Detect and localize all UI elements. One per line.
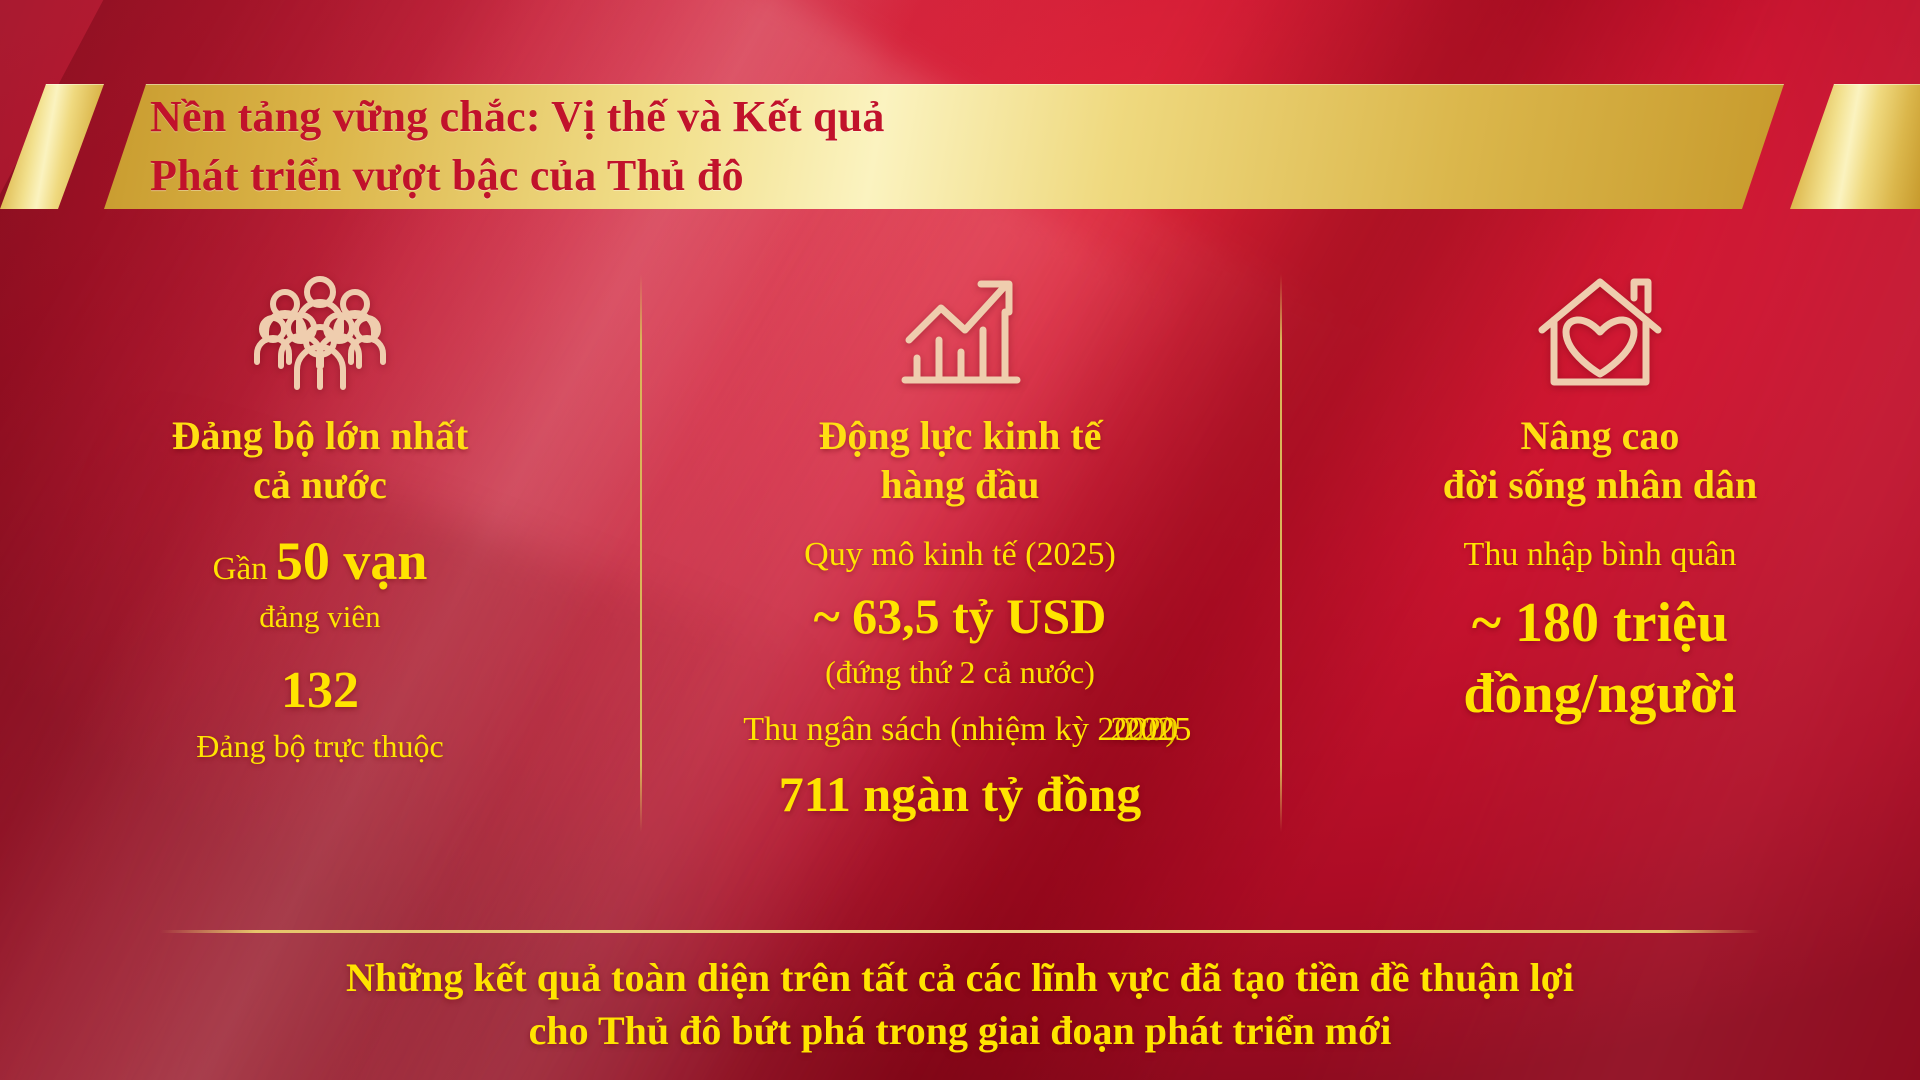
column-3-value-line-2: đồng/người xyxy=(1463,661,1736,728)
footer-divider xyxy=(160,930,1760,933)
group-people-icon xyxy=(254,240,386,390)
house-heart-icon xyxy=(1536,240,1664,390)
column-1-stat-1-prefix: Gần xyxy=(213,551,276,587)
page-title-line-2: Phát triển vượt bậc của Thủ đô xyxy=(150,147,1450,206)
column-2-note-1: (đứng thứ 2 cả nước) xyxy=(825,654,1095,691)
column-1-heading-line-2: cả nước xyxy=(172,461,469,510)
column-1-heading: Đảng bộ lớn nhất cả nước xyxy=(172,412,469,510)
footer-statement: Những kết quả toàn diện trên tất cả các … xyxy=(0,952,1920,1058)
footer-line-1: Những kết quả toàn diện trên tất cả các … xyxy=(0,952,1920,1005)
stat-column-party: Đảng bộ lớn nhất cả nước Gần 50 vạn đảng… xyxy=(0,232,640,922)
stats-columns: Đảng bộ lớn nhất cả nước Gần 50 vạn đảng… xyxy=(0,232,1920,922)
column-3-value-line-1: ~ 180 triệu xyxy=(1472,590,1728,657)
column-3-label-1: Thu nhập bình quân xyxy=(1464,534,1737,577)
column-2-heading-line-1: Động lực kinh tế xyxy=(819,412,1102,461)
column-3-heading-line-1: Nâng cao xyxy=(1443,412,1758,461)
page-title-line-1: Nền tảng vững chắc: Vị thế và Kết quả xyxy=(150,88,1450,147)
column-2-label-2: Thu ngân sách (nhiệm kỳ 2020202020202025… xyxy=(743,709,1176,752)
column-2-year-layer-c: 2025 xyxy=(1123,709,1191,752)
column-2-value-1: ~ 63,5 tỷ USD xyxy=(814,586,1107,646)
page-title: Nền tảng vững chắc: Vị thế và Kết quả Ph… xyxy=(150,84,1450,209)
column-3-heading-line-2: đời sống nhân dân xyxy=(1443,461,1758,510)
growth-chart-icon xyxy=(895,240,1025,390)
column-1-stat-1-value: 50 vạn xyxy=(276,531,428,591)
banner-right-chip xyxy=(1790,84,1920,209)
column-1-heading-line-1: Đảng bộ lớn nhất xyxy=(172,412,469,461)
column-1-stat-1-caption: đảng viên xyxy=(259,599,380,635)
column-2-label-1: Quy mô kinh tế (2025) xyxy=(804,534,1116,577)
column-2-heading: Động lực kinh tế hàng đầu xyxy=(819,412,1102,510)
column-1-stat-1: Gần 50 vạn xyxy=(213,530,428,594)
column-2-value-2: 711 ngàn tỷ đồng xyxy=(779,764,1142,824)
column-1-stat-2-caption: Đảng bộ trực thuộc xyxy=(196,728,444,765)
column-2-heading-line-2: hàng đầu xyxy=(819,461,1102,510)
stat-column-economy: Động lực kinh tế hàng đầu Quy mô kinh tế… xyxy=(640,232,1280,922)
column-2-year-range-overlap: 2020202020202025 xyxy=(1097,709,1165,752)
column-3-heading: Nâng cao đời sống nhân dân xyxy=(1443,412,1758,510)
banner-left-chip xyxy=(0,84,104,209)
column-2-label-2-prefix: Thu ngân sách (nhiệm kỳ xyxy=(743,711,1097,748)
column-1-stat-2-value: 132 xyxy=(281,661,359,720)
footer-line-2: cho Thủ đô bứt phá trong giai đoạn phát … xyxy=(0,1005,1920,1058)
stat-column-living: Nâng cao đời sống nhân dân Thu nhập bình… xyxy=(1280,232,1920,922)
